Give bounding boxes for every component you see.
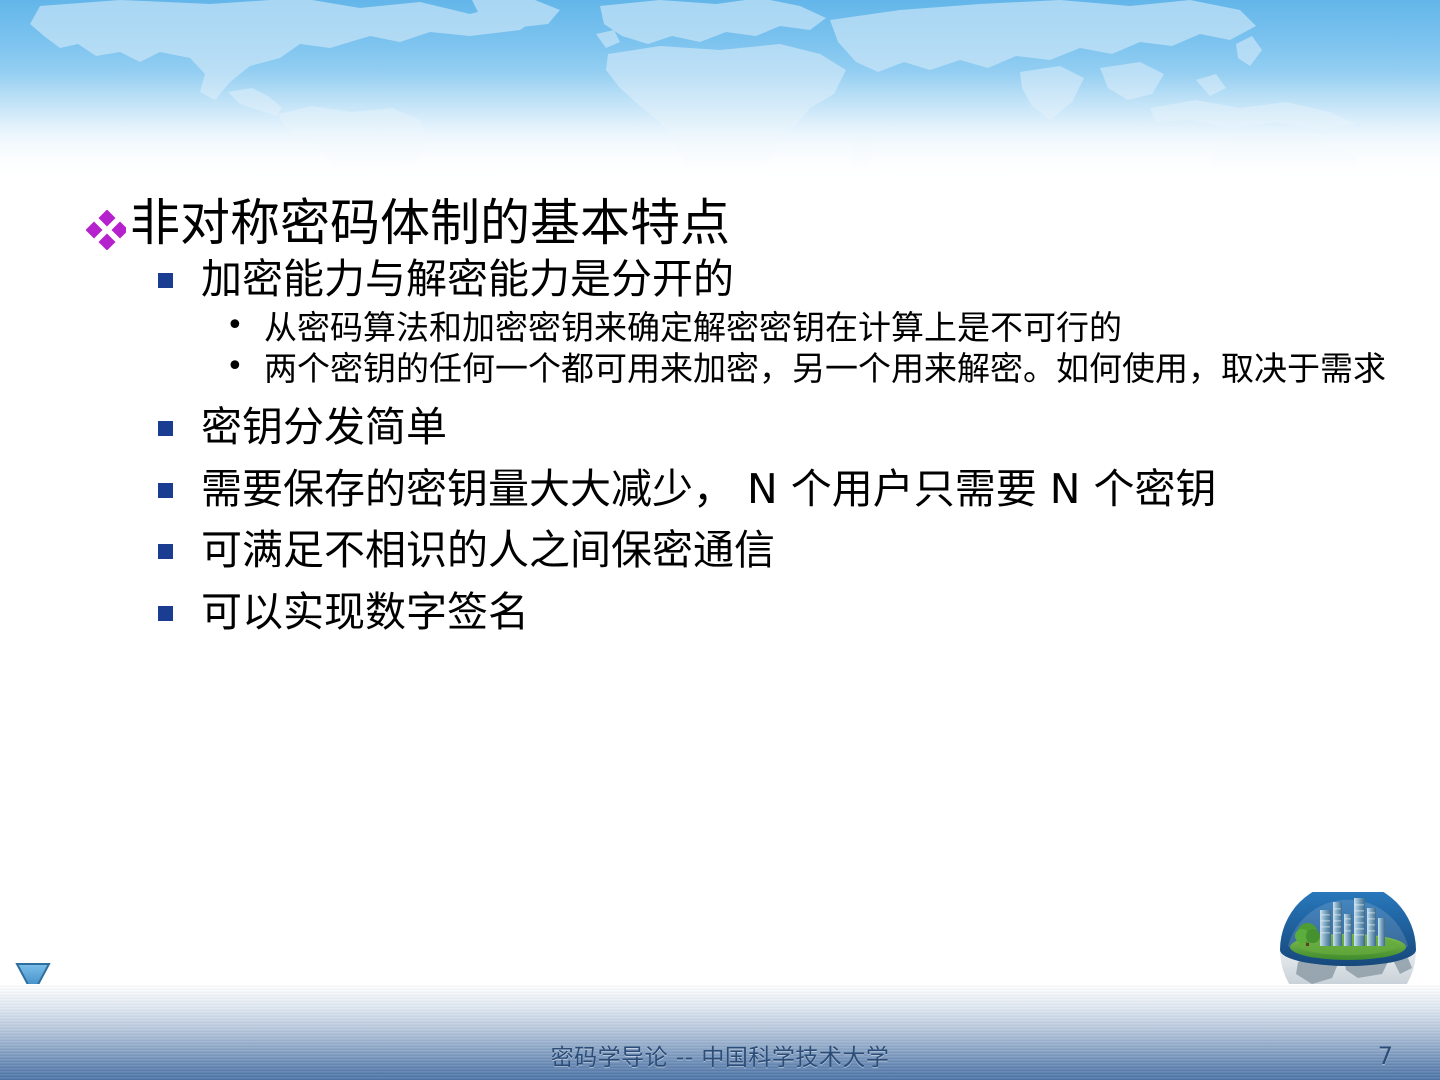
diamond-cluster-icon <box>86 196 130 254</box>
list-item-label: 可满足不相识的人之间保密通信 <box>201 527 775 575</box>
square-bullet-icon <box>158 404 201 436</box>
sub-list-item-label: 两个密钥的任何一个都可用来加密，另一个用来解密。如何使用，取决于需求 <box>264 349 1386 389</box>
slide-content: 非对称密码体制的基本特点 加密能力与解密能力是分开的 • 从密码算法和加密密钥来… <box>0 196 1440 640</box>
list-item: 密钥分发简单 <box>0 404 1440 452</box>
sub-list-item: • 从密码算法和加密密钥来确定解密密钥在计算上是不可行的 <box>0 308 1440 348</box>
sub-list-item-label: 从密码算法和加密密钥来确定解密密钥在计算上是不可行的 <box>264 308 1122 348</box>
square-bullet-icon <box>158 527 201 559</box>
list-item-label: 密钥分发简单 <box>201 404 447 452</box>
round-bullet-icon: • <box>226 349 264 382</box>
list-item: 可以实现数字签名 <box>0 589 1440 637</box>
list-item: 加密能力与解密能力是分开的 <box>0 256 1440 304</box>
header-banner <box>0 0 1440 190</box>
square-bullet-icon <box>158 256 201 288</box>
list-item-label: 可以实现数字签名 <box>201 589 529 637</box>
list-item: 需要保存的密钥量大大减少， N 个用户只需要 N 个密钥 <box>0 466 1440 514</box>
list-item-label: 需要保存的密钥量大大减少， N 个用户只需要 N 个密钥 <box>201 466 1216 514</box>
square-bullet-icon <box>158 589 201 621</box>
page-title-row: 非对称密码体制的基本特点 <box>0 196 1440 254</box>
world-map-banner-icon <box>0 0 1440 166</box>
sub-list-item: • 两个密钥的任何一个都可用来加密，另一个用来解密。如何使用，取决于需求 <box>0 349 1440 389</box>
list-item: 可满足不相识的人之间保密通信 <box>0 527 1440 575</box>
slide-canvas: 非对称密码体制的基本特点 加密能力与解密能力是分开的 • 从密码算法和加密密钥来… <box>0 0 1440 1080</box>
footer-caption: 密码学导论 -- 中国科学技术大学 <box>0 1038 1440 1072</box>
page-number: 7 <box>1378 1042 1393 1070</box>
square-bullet-icon <box>158 466 201 498</box>
round-bullet-icon: • <box>226 308 264 341</box>
list-item-label: 加密能力与解密能力是分开的 <box>201 256 734 304</box>
page-title: 非对称密码体制的基本特点 <box>130 196 730 251</box>
